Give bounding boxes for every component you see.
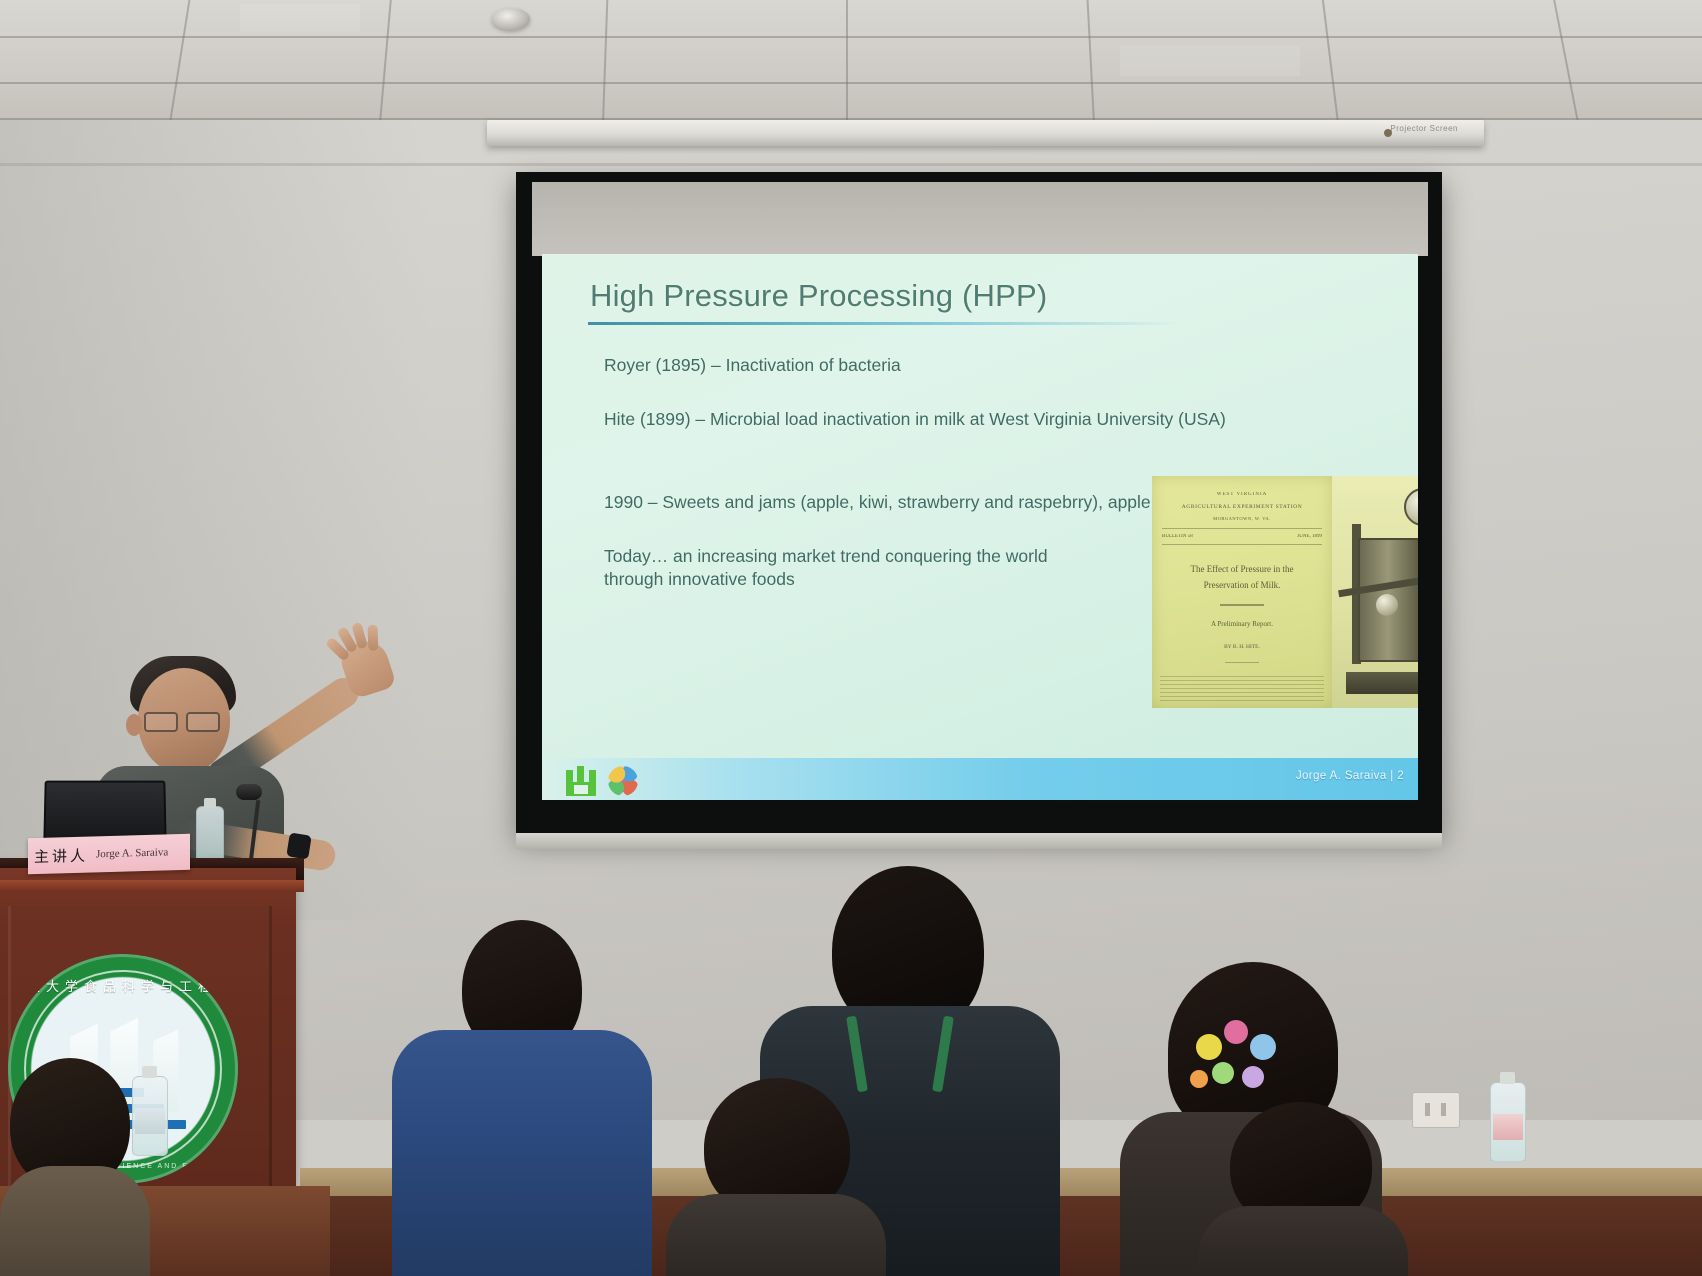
globe-logo-icon	[608, 766, 638, 796]
bulletin-header-2: AGRICULTURAL EXPERIMENT STATION	[1152, 504, 1332, 510]
slide-content: High Pressure Processing (HPP) Royer (18…	[542, 254, 1418, 800]
hair-pom-pom-green	[1212, 1062, 1234, 1084]
speaker-nameplate: 主讲人 Jorge A. Saraiva	[28, 834, 190, 875]
audience-water-bottle-1	[1490, 1082, 1526, 1162]
audience-member-5	[1198, 1102, 1408, 1276]
ceiling-grid	[0, 0, 1702, 132]
hair-pom-pom-orange	[1190, 1070, 1208, 1088]
ceiling	[0, 0, 1702, 132]
audience-member-6	[0, 1058, 150, 1276]
hair-pom-pom-pink	[1224, 1020, 1248, 1044]
speaker-ear	[126, 714, 142, 736]
bulletin-date: JUNE, 1899	[1297, 534, 1322, 539]
nameplate-chinese-label: 主讲人	[34, 844, 88, 867]
pressure-gauge-icon	[1404, 488, 1418, 526]
projector-screen-housing: Projector Screen	[487, 120, 1484, 146]
slide-title: High Pressure Processing (HPP)	[590, 278, 1047, 314]
bulletin-subtitle: A Preliminary Report.	[1152, 620, 1332, 628]
audience-member-1	[392, 920, 652, 1276]
screen-blank-area	[532, 182, 1428, 256]
bulletin-header-3: MORGANTOWN, W. VA.	[1152, 516, 1332, 521]
lecture-hall-photo: Projector Screen High Pressure Processin…	[0, 0, 1702, 1276]
bulletin-scan: WEST VIRGINIA AGRICULTURAL EXPERIMENT ST…	[1152, 476, 1332, 708]
housing-label: Projector Screen	[1390, 124, 1458, 133]
slide-bullet-1: Royer (1895) – Inactivation of bacteria	[604, 354, 1384, 377]
hydraulic-press-photo	[1332, 476, 1418, 708]
slide-bullet-4: Today… an increasing market trend conque…	[604, 545, 1074, 591]
title-underline	[588, 322, 1183, 325]
hair-pom-pom-blue	[1250, 1034, 1276, 1060]
bulletin-footer-text	[1160, 676, 1324, 702]
bulletin-number: BULLETIN 58	[1162, 534, 1193, 539]
historic-bulletin-image: WEST VIRGINIA AGRICULTURAL EXPERIMENT ST…	[1152, 476, 1418, 708]
slide-footer-credit: Jorge A. Saraiva | 2	[1296, 770, 1404, 782]
wall-outlet-icon	[1412, 1092, 1460, 1128]
hair-pom-pom-purple	[1242, 1066, 1264, 1088]
eyeglasses-icon	[144, 712, 220, 728]
emblem-chinese-text: 宁波大学食品科学与工程学院	[8, 976, 238, 995]
bulletin-header-1: WEST VIRGINIA	[1152, 492, 1332, 497]
projected-slide: High Pressure Processing (HPP) Royer (18…	[542, 254, 1418, 800]
hair-pom-pom-yellow	[1196, 1034, 1222, 1060]
bulletin-title-1: The Effect of Pressure in the	[1152, 564, 1332, 574]
nameplate-speaker-name: Jorge A. Saraiva	[96, 846, 168, 860]
wristwatch-icon	[286, 832, 311, 859]
bulletin-author: BY B. H. HITE.	[1152, 644, 1332, 650]
slide-bullet-2: Hite (1899) – Microbial load inactivatio…	[604, 408, 1384, 431]
podium-lip	[0, 880, 304, 892]
slide-logos	[566, 764, 638, 796]
slide-footer-bar: Jorge A. Saraiva | 2	[542, 758, 1418, 800]
bulletin-title-2: Preservation of Milk.	[1152, 580, 1332, 590]
audience-member-4	[666, 1078, 886, 1276]
university-logo-icon	[566, 764, 596, 796]
smoke-detector-icon	[492, 8, 530, 30]
wall-seam	[0, 163, 1702, 166]
projection-screen-frame: High Pressure Processing (HPP) Royer (18…	[516, 172, 1442, 835]
microphone-icon[interactable]	[236, 784, 262, 800]
